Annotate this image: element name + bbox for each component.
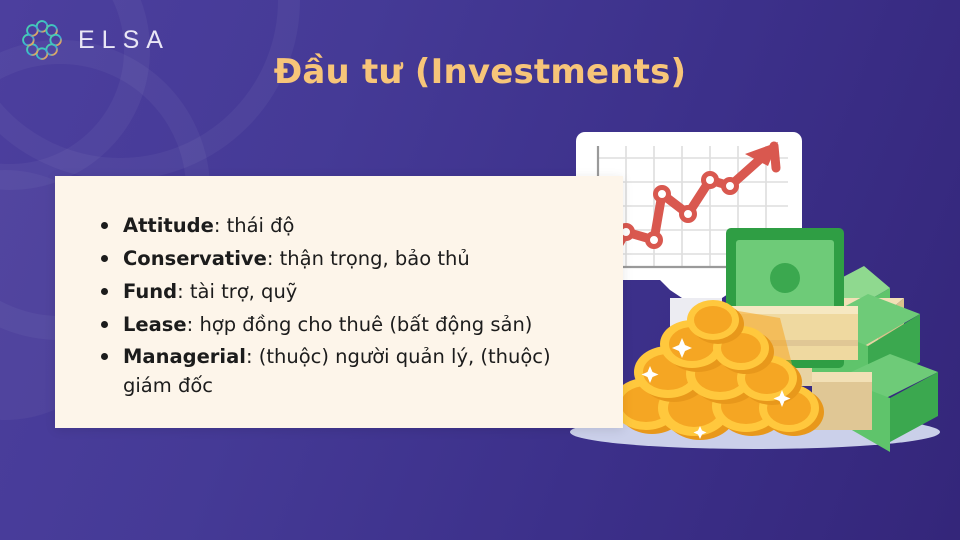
vocabulary-separator: : — [246, 345, 259, 368]
vocabulary-term: Attitude — [123, 214, 214, 237]
vocabulary-card: Attitude: thái độConservative: thận trọn… — [55, 176, 623, 428]
list-item: Lease: hợp đồng cho thuê (bất động sản) — [101, 311, 571, 340]
list-item: Conservative: thận trọng, bảo thủ — [101, 245, 571, 274]
vocabulary-term: Conservative — [123, 247, 267, 270]
list-item: Fund: tài trợ, quỹ — [101, 278, 571, 307]
vocabulary-separator: : — [214, 214, 227, 237]
vocabulary-separator: : — [177, 280, 190, 303]
vocabulary-separator: : — [267, 247, 280, 270]
vocabulary-term: Managerial — [123, 345, 246, 368]
vocabulary-separator: : — [187, 313, 200, 336]
slide-canvas: ELSA Đầu tư (Investments) — [0, 0, 960, 540]
vocabulary-definition: tài trợ, quỹ — [190, 280, 297, 303]
list-item: Attitude: thái độ — [101, 212, 571, 241]
vocabulary-list: Attitude: thái độConservative: thận trọn… — [101, 212, 623, 401]
vocabulary-term: Lease — [123, 313, 187, 336]
vocabulary-term: Fund — [123, 280, 177, 303]
brand-name: ELSA — [78, 26, 170, 55]
vocabulary-definition: hợp đồng cho thuê (bất động sản) — [199, 313, 532, 336]
list-item: Managerial: (thuộc) người quản lý, (thuộ… — [101, 343, 571, 401]
vocabulary-definition: thận trọng, bảo thủ — [280, 247, 470, 270]
vocabulary-definition: thái độ — [227, 214, 295, 237]
page-title: Đầu tư (Investments) — [0, 52, 960, 92]
